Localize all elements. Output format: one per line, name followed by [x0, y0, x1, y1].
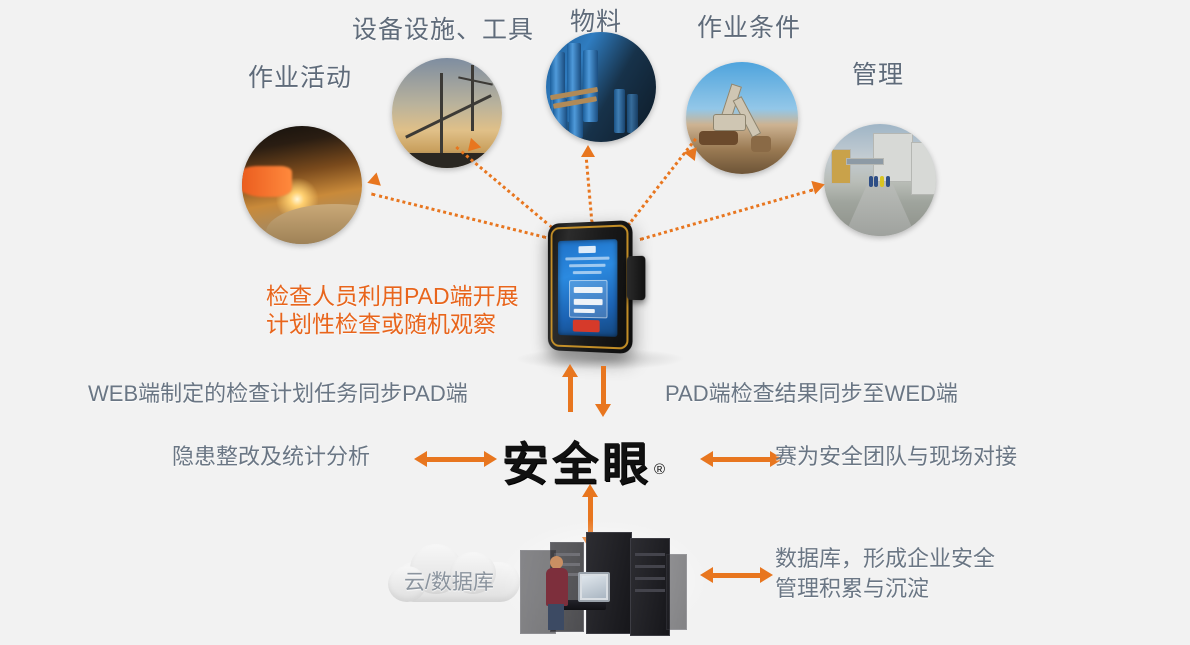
category-label-management: 管理 — [852, 55, 904, 91]
flow-right-mid-label: 赛为安全团队与现场对接 — [775, 442, 1017, 472]
flow-web-to-pad-label: WEB端制定的检查计划任务同步PAD端 — [88, 379, 468, 409]
arrow-left-mid-shaft — [424, 457, 486, 462]
brand-trademark-symbol: ® — [654, 461, 665, 478]
arrow-brand-to-servers-up-icon — [582, 484, 598, 497]
flow-pad-to-web-label: PAD端检查结果同步至WED端 — [665, 379, 958, 409]
arrow-down-icon — [595, 404, 611, 417]
server-monitor — [578, 572, 610, 602]
arrow-bidirectional-icon-bottom-start — [700, 567, 713, 583]
data-center-graphic — [520, 528, 685, 640]
dotted-arrow-to-materials — [584, 152, 593, 224]
brand-logo-text: 安全眼 — [502, 437, 652, 491]
category-label-work-conditions: 作业条件 — [697, 8, 801, 44]
arrow-up-icon — [562, 364, 578, 377]
category-image-management — [824, 124, 936, 236]
flow-bottom-label-line2: 管理积累与沉淀 — [775, 574, 929, 604]
category-image-materials — [546, 32, 656, 142]
pad-hand-strap — [627, 256, 646, 301]
arrow-down-shaft — [601, 366, 606, 406]
arrow-bidirectional-icon-left-start — [414, 451, 427, 467]
dotted-arrow-to-management — [640, 188, 814, 240]
arrow-bidirectional-icon-left-end — [484, 451, 497, 467]
cloud-database-label: 云/数据库 — [404, 566, 494, 596]
category-image-work-activity — [242, 126, 362, 244]
arrow-bidirectional-icon-bottom-end — [760, 567, 773, 583]
arrow-bottom-shaft — [710, 573, 762, 578]
arrow-bidirectional-icon-right-start — [700, 451, 713, 467]
diagram-canvas: 作业活动 设备设施、工具 物料 作业条件 管理 — [0, 0, 1190, 645]
category-label-equipment: 设备设施、工具 — [352, 10, 534, 46]
category-image-equipment — [392, 58, 502, 168]
arrow-right-mid-shaft — [710, 457, 772, 462]
center-caption-line2: 计划性检查或随机观察 — [266, 309, 496, 339]
dotted-arrow-head-materials — [581, 145, 595, 157]
pad-device[interactable] — [545, 222, 633, 352]
flow-bottom-label-line1: 数据库，形成企业安全 — [775, 544, 995, 574]
category-image-work-conditions — [686, 62, 798, 174]
arrow-up-shaft — [568, 372, 573, 412]
category-label-work-activity: 作业活动 — [248, 58, 352, 94]
flow-left-mid-label: 隐患整改及统计分析 — [172, 442, 370, 472]
dotted-arrow-head-work-activity — [365, 172, 381, 189]
center-caption-line1: 检查人员利用PAD端开展 — [266, 281, 519, 311]
